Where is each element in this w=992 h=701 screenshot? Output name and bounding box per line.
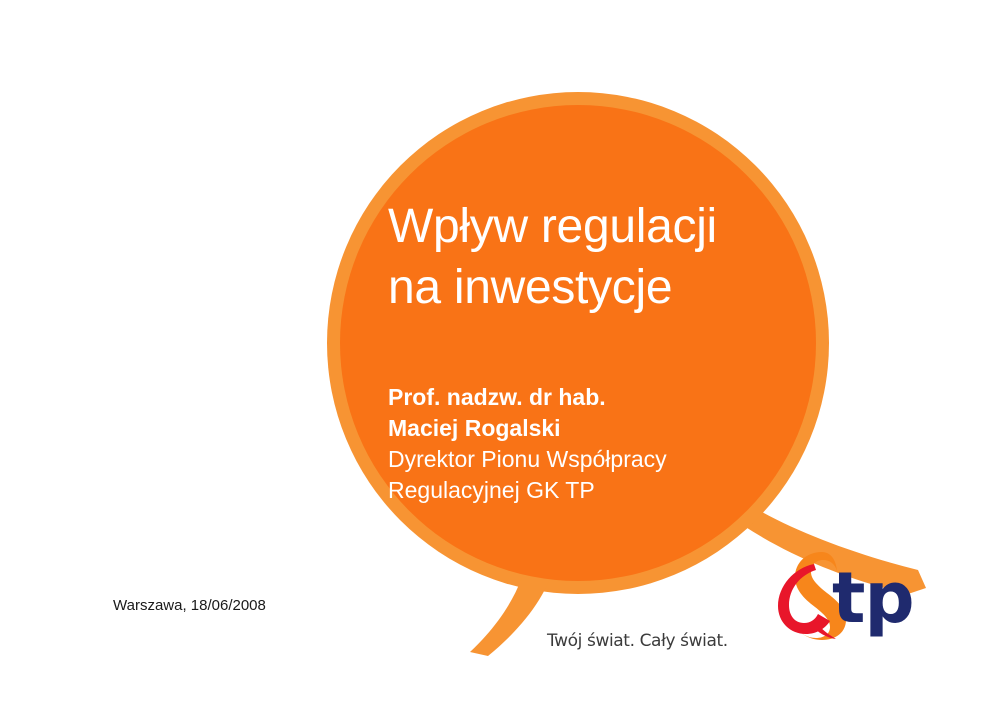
bubble-tail-left [470, 552, 556, 656]
presenter-name: Prof. nadzw. dr hab. Maciej Rogalski [388, 382, 788, 444]
presenter-block: Prof. nadzw. dr hab. Maciej Rogalski Dyr… [388, 382, 788, 506]
brand-logo: tp [770, 548, 950, 640]
brand-wordmark: tp [832, 552, 914, 644]
footer-date: Warszawa, 18/06/2008 [113, 597, 266, 614]
title-block: Wpływ regulacji na inwestycje [388, 196, 808, 318]
brand-tagline: Twój świat. Cały świat. [547, 631, 728, 651]
bubble-ring [327, 92, 829, 594]
bubble-fill [340, 105, 816, 581]
slide-title: Wpływ regulacji na inwestycje [388, 196, 808, 318]
presenter-role: Dyrektor Pionu Współpracy Regulacyjnej G… [388, 444, 788, 506]
title-slide: Wpływ regulacji na inwestycje Prof. nadz… [0, 0, 992, 701]
